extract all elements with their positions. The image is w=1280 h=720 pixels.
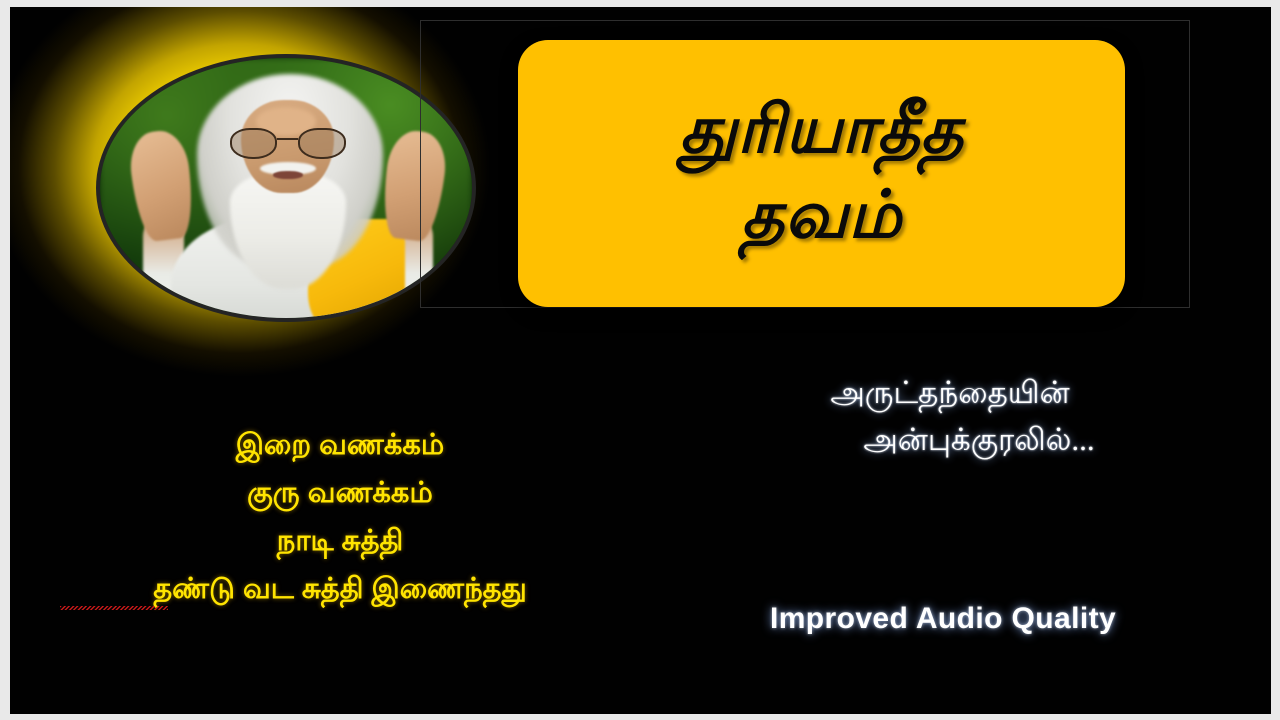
- title-line-1: துரியாதீத: [679, 89, 963, 173]
- slide-canvas: துரியாதீத தவம் அருட்தந்தையின் அன்புக்குர…: [10, 7, 1271, 714]
- audio-quality-note: Improved Audio Quality: [770, 602, 1116, 636]
- slide-frame: துரியாதீத தவம் அருட்தந்தையின் அன்புக்குர…: [0, 0, 1280, 720]
- glasses-left-lens: [230, 128, 277, 159]
- agenda-line-4: தண்டு வட சுத்தி இணைந்தது: [30, 565, 650, 613]
- title-line-2: தவம்: [741, 174, 902, 258]
- agenda-line-2: குரு வணக்கம்: [30, 469, 650, 517]
- agenda-block[interactable]: இறை வணக்கம் குரு வணக்கம் நாடி சுத்தி தண்…: [30, 421, 650, 614]
- spellcheck-squiggle-underline: [60, 606, 168, 610]
- glasses-bridge: [277, 138, 298, 140]
- title-box[interactable]: துரியாதீத தவம்: [518, 40, 1125, 307]
- guru-portrait-oval: [96, 54, 476, 322]
- glasses-icon: [230, 128, 345, 159]
- subtitle-block[interactable]: அருட்தந்தையின் அன்புக்குரலில்...: [710, 369, 1190, 463]
- subtitle-line-1: அருட்தந்தையின்: [710, 369, 1190, 416]
- subtitle-line-2: அன்புக்குரலில்...: [710, 416, 1190, 463]
- agenda-line-4-text: தண்டு வட சுத்தி இணைந்தது: [153, 573, 526, 605]
- glasses-right-lens: [298, 128, 345, 159]
- agenda-line-3: நாடி சுத்தி: [30, 517, 650, 565]
- agenda-line-1: இறை வணக்கம்: [30, 421, 650, 469]
